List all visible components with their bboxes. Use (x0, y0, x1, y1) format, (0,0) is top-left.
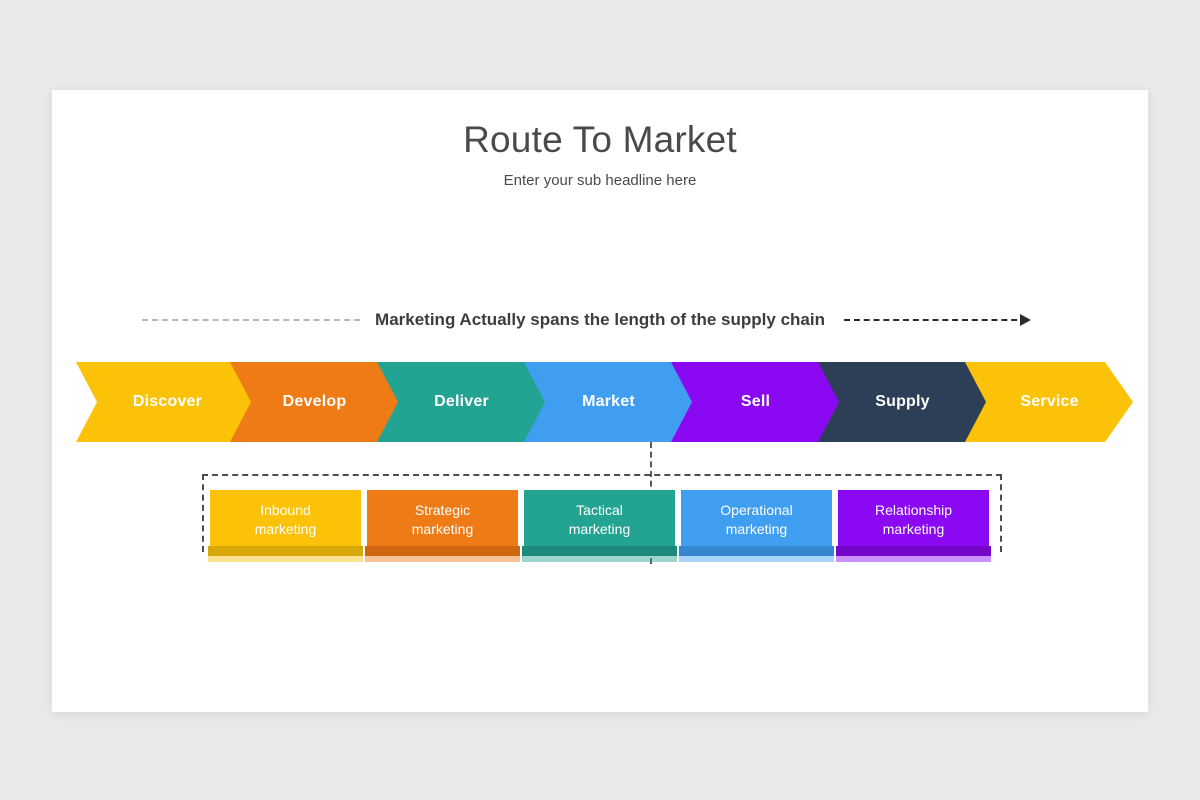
process-chevron-row: Discover Develop Deliver Market Sell Sup… (76, 362, 1140, 442)
detail-card-line1: Tactical (569, 501, 630, 520)
detail-card-line2: marketing (720, 520, 792, 539)
detail-card-line1: Relationship (875, 501, 952, 520)
page-subtitle: Enter your sub headline here (52, 172, 1148, 189)
detail-card-base (679, 546, 834, 562)
supply-chain-banner: Marketing Actually spans the length of t… (52, 308, 1148, 344)
dashed-line-right (844, 319, 1027, 321)
detail-card-base (836, 546, 991, 562)
chevron-label: Develop (283, 393, 347, 411)
slide-canvas: Route To Market Enter your sub headline … (52, 90, 1148, 712)
detail-card-strategic-marketing[interactable]: Strategic marketing (367, 490, 518, 550)
detail-card-base (208, 546, 363, 562)
detail-card-body: Operational marketing (681, 490, 832, 550)
detail-card-base (365, 546, 520, 562)
dashed-arrow-right (844, 319, 1029, 321)
detail-card-operational-marketing[interactable]: Operational marketing (681, 490, 832, 550)
detail-card-line1: Operational (720, 501, 792, 520)
detail-card-base (522, 546, 677, 562)
detail-card-body: Inbound marketing (210, 490, 361, 550)
detail-card-line2: marketing (569, 520, 630, 539)
chevron-label: Market (582, 393, 635, 411)
detail-card-line1: Strategic (412, 501, 473, 520)
detail-card-line2: marketing (255, 520, 316, 539)
chevron-step-discover[interactable]: Discover (76, 362, 251, 442)
page-title: Route To Market (52, 119, 1148, 161)
chevron-label: Deliver (434, 393, 489, 411)
chevron-label: Supply (875, 393, 930, 411)
chevron-label: Service (1020, 393, 1078, 411)
detail-card-row: Inbound marketing Strategic marketing Ta… (210, 490, 990, 576)
detail-card-relationship-marketing[interactable]: Relationship marketing (838, 490, 989, 550)
chevron-label: Sell (741, 393, 770, 411)
detail-card-body: Relationship marketing (838, 490, 989, 550)
detail-card-inbound-marketing[interactable]: Inbound marketing (210, 490, 361, 550)
detail-card-line2: marketing (875, 520, 952, 539)
detail-card-tactical-marketing[interactable]: Tactical marketing (524, 490, 675, 550)
detail-card-body: Tactical marketing (524, 490, 675, 550)
detail-card-line2: marketing (412, 520, 473, 539)
chevron-label: Discover (133, 393, 202, 411)
arrow-right-icon (1020, 314, 1031, 326)
detail-card-body: Strategic marketing (367, 490, 518, 550)
detail-card-line1: Inbound (255, 501, 316, 520)
